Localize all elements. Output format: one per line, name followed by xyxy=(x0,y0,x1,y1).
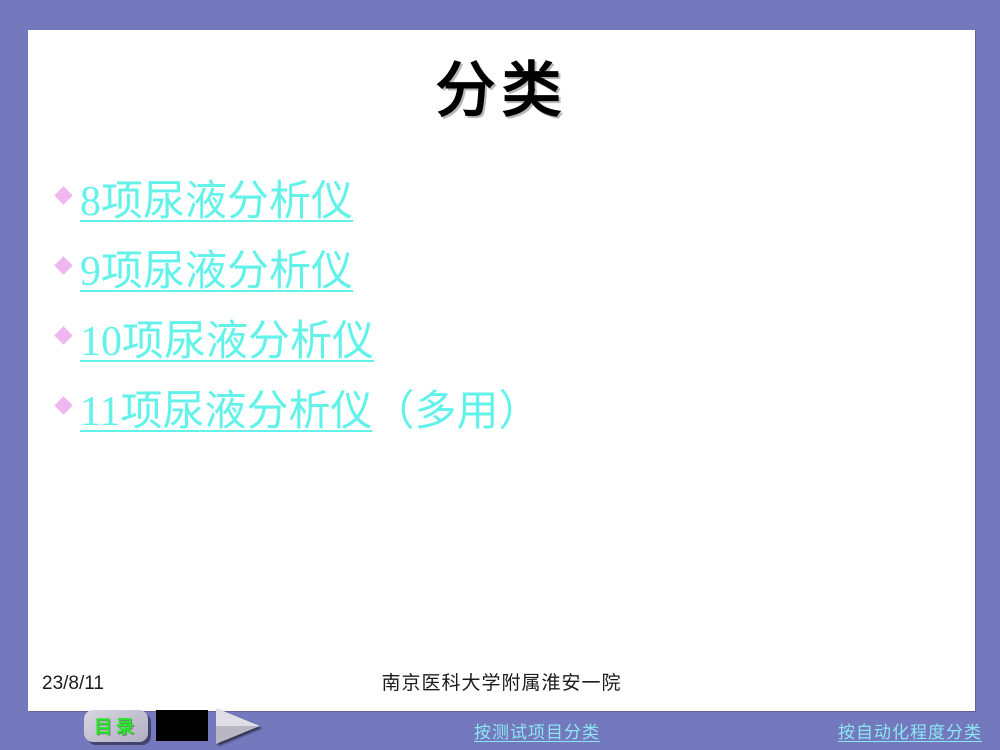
page-title: 分类 xyxy=(28,58,975,124)
diamond-bullet-icon xyxy=(46,245,80,272)
list-item[interactable]: 8项尿液分析仪 xyxy=(46,175,946,231)
next-arrow-icon[interactable] xyxy=(216,708,260,744)
bullet-list: 8项尿液分析仪 9项尿液分析仪 10项尿液分析仪 xyxy=(46,175,946,455)
list-item[interactable]: 11项尿液分析仪（多用） xyxy=(46,385,946,441)
menu-button-label: 目录 xyxy=(94,713,138,739)
slide-canvas: 分类 8项尿液分析仪 9项尿液分析仪 xyxy=(28,30,975,711)
diamond-bullet-icon xyxy=(46,175,80,202)
link-by-automation[interactable]: 按自动化程度分类 xyxy=(838,718,982,743)
list-item-text: 8项尿液分析仪 xyxy=(80,175,353,229)
link-by-test-item[interactable]: 按测试项目分类 xyxy=(474,718,600,743)
link-10-item-analyzer[interactable]: 10项尿液分析仪 xyxy=(80,319,374,365)
list-item-text: 11项尿液分析仪（多用） xyxy=(80,385,540,439)
list-item-text: 9项尿液分析仪 xyxy=(80,245,353,299)
link-8-item-analyzer[interactable]: 8项尿液分析仪 xyxy=(80,179,353,225)
diamond-bullet-icon xyxy=(46,385,80,412)
list-item[interactable]: 10项尿液分析仪 xyxy=(46,315,946,371)
slide-stage: 分类 8项尿液分析仪 9项尿液分析仪 xyxy=(0,0,1000,750)
diamond-bullet-icon xyxy=(46,315,80,342)
link-11-item-analyzer[interactable]: 11项尿液分析仪 xyxy=(80,389,372,435)
link-9-item-analyzer[interactable]: 9项尿液分析仪 xyxy=(80,249,353,295)
list-item-suffix: （多用） xyxy=(372,389,540,435)
list-item-text: 10项尿液分析仪 xyxy=(80,315,374,369)
list-item[interactable]: 9项尿液分析仪 xyxy=(46,245,946,301)
menu-button[interactable]: 目录 xyxy=(84,710,148,742)
black-block-button[interactable] xyxy=(156,710,208,741)
footer-organization: 南京医科大学附属淮安一院 xyxy=(28,668,975,695)
